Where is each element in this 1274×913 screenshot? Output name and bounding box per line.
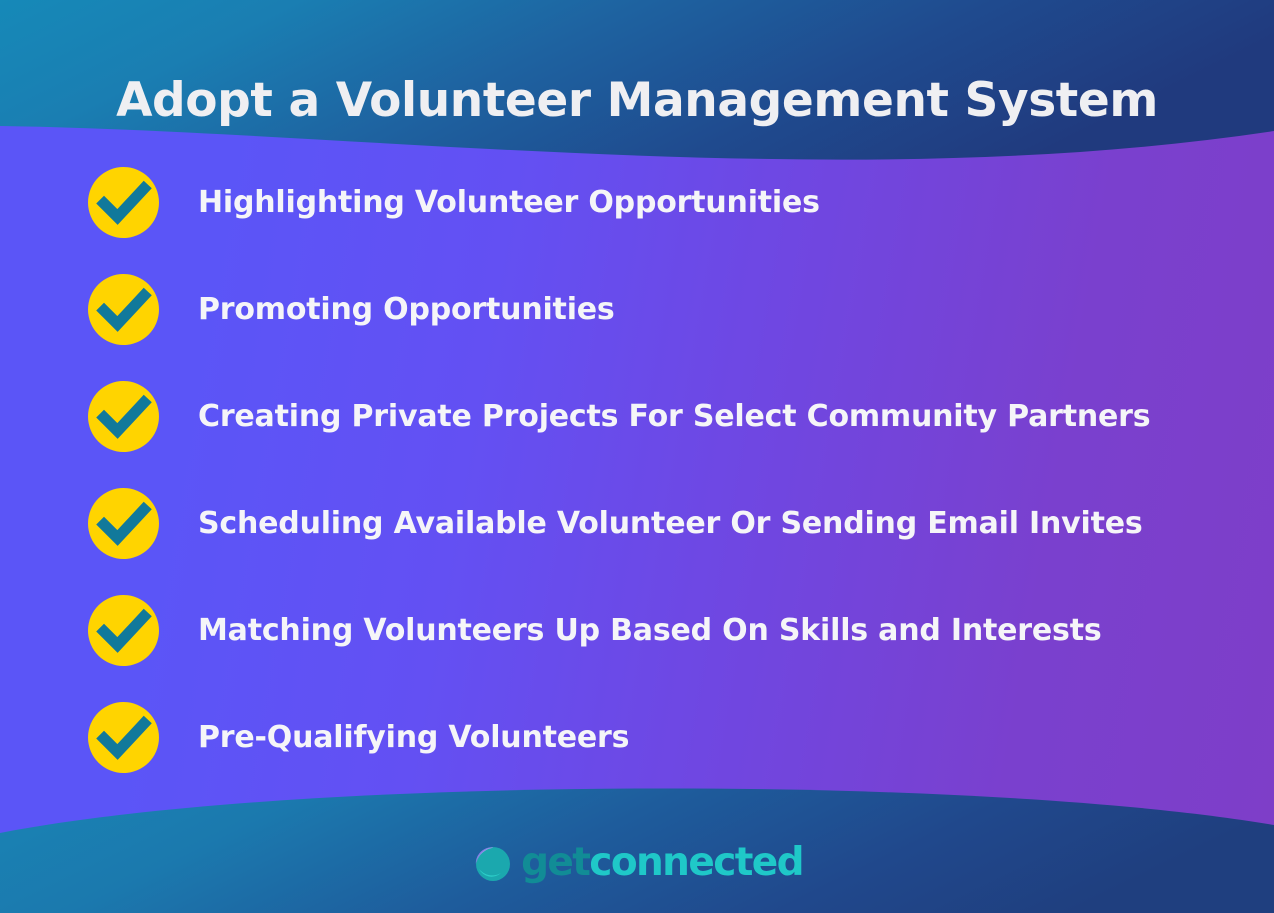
list-item-label: Pre-Qualifying Volunteers	[198, 720, 629, 755]
list-item-label: Scheduling Available Volunteer Or Sendin…	[198, 506, 1143, 541]
brand-logo: getconnected	[0, 841, 1274, 883]
list-item-label: Promoting Opportunities	[198, 292, 615, 327]
check-circle-icon	[88, 167, 159, 238]
logo-text-connected: connected	[589, 840, 803, 885]
list-item: Highlighting Volunteer Opportunities	[0, 164, 1274, 240]
benefits-checklist: Highlighting Volunteer Opportunities Pro…	[0, 164, 1274, 775]
check-circle-icon	[88, 595, 159, 666]
check-circle-icon	[88, 274, 159, 345]
logo-text-get: get	[521, 840, 589, 885]
check-circle-icon	[88, 381, 159, 452]
list-item-label: Matching Volunteers Up Based On Skills a…	[198, 613, 1102, 648]
list-item: Promoting Opportunities	[0, 271, 1274, 347]
getconnected-leaf-circle-icon	[471, 841, 513, 883]
list-item-label: Highlighting Volunteer Opportunities	[198, 185, 820, 220]
list-item: Creating Private Projects For Select Com…	[0, 378, 1274, 454]
footer-banner	[0, 753, 1274, 913]
page-title: Adopt a Volunteer Management System	[0, 73, 1274, 128]
check-circle-icon	[88, 488, 159, 559]
list-item: Scheduling Available Volunteer Or Sendin…	[0, 485, 1274, 561]
logo-wordmark: getconnected	[521, 843, 803, 882]
infographic-poster: Adopt a Volunteer Management System High…	[0, 0, 1274, 913]
list-item: Matching Volunteers Up Based On Skills a…	[0, 592, 1274, 668]
list-item-label: Creating Private Projects For Select Com…	[198, 399, 1150, 434]
